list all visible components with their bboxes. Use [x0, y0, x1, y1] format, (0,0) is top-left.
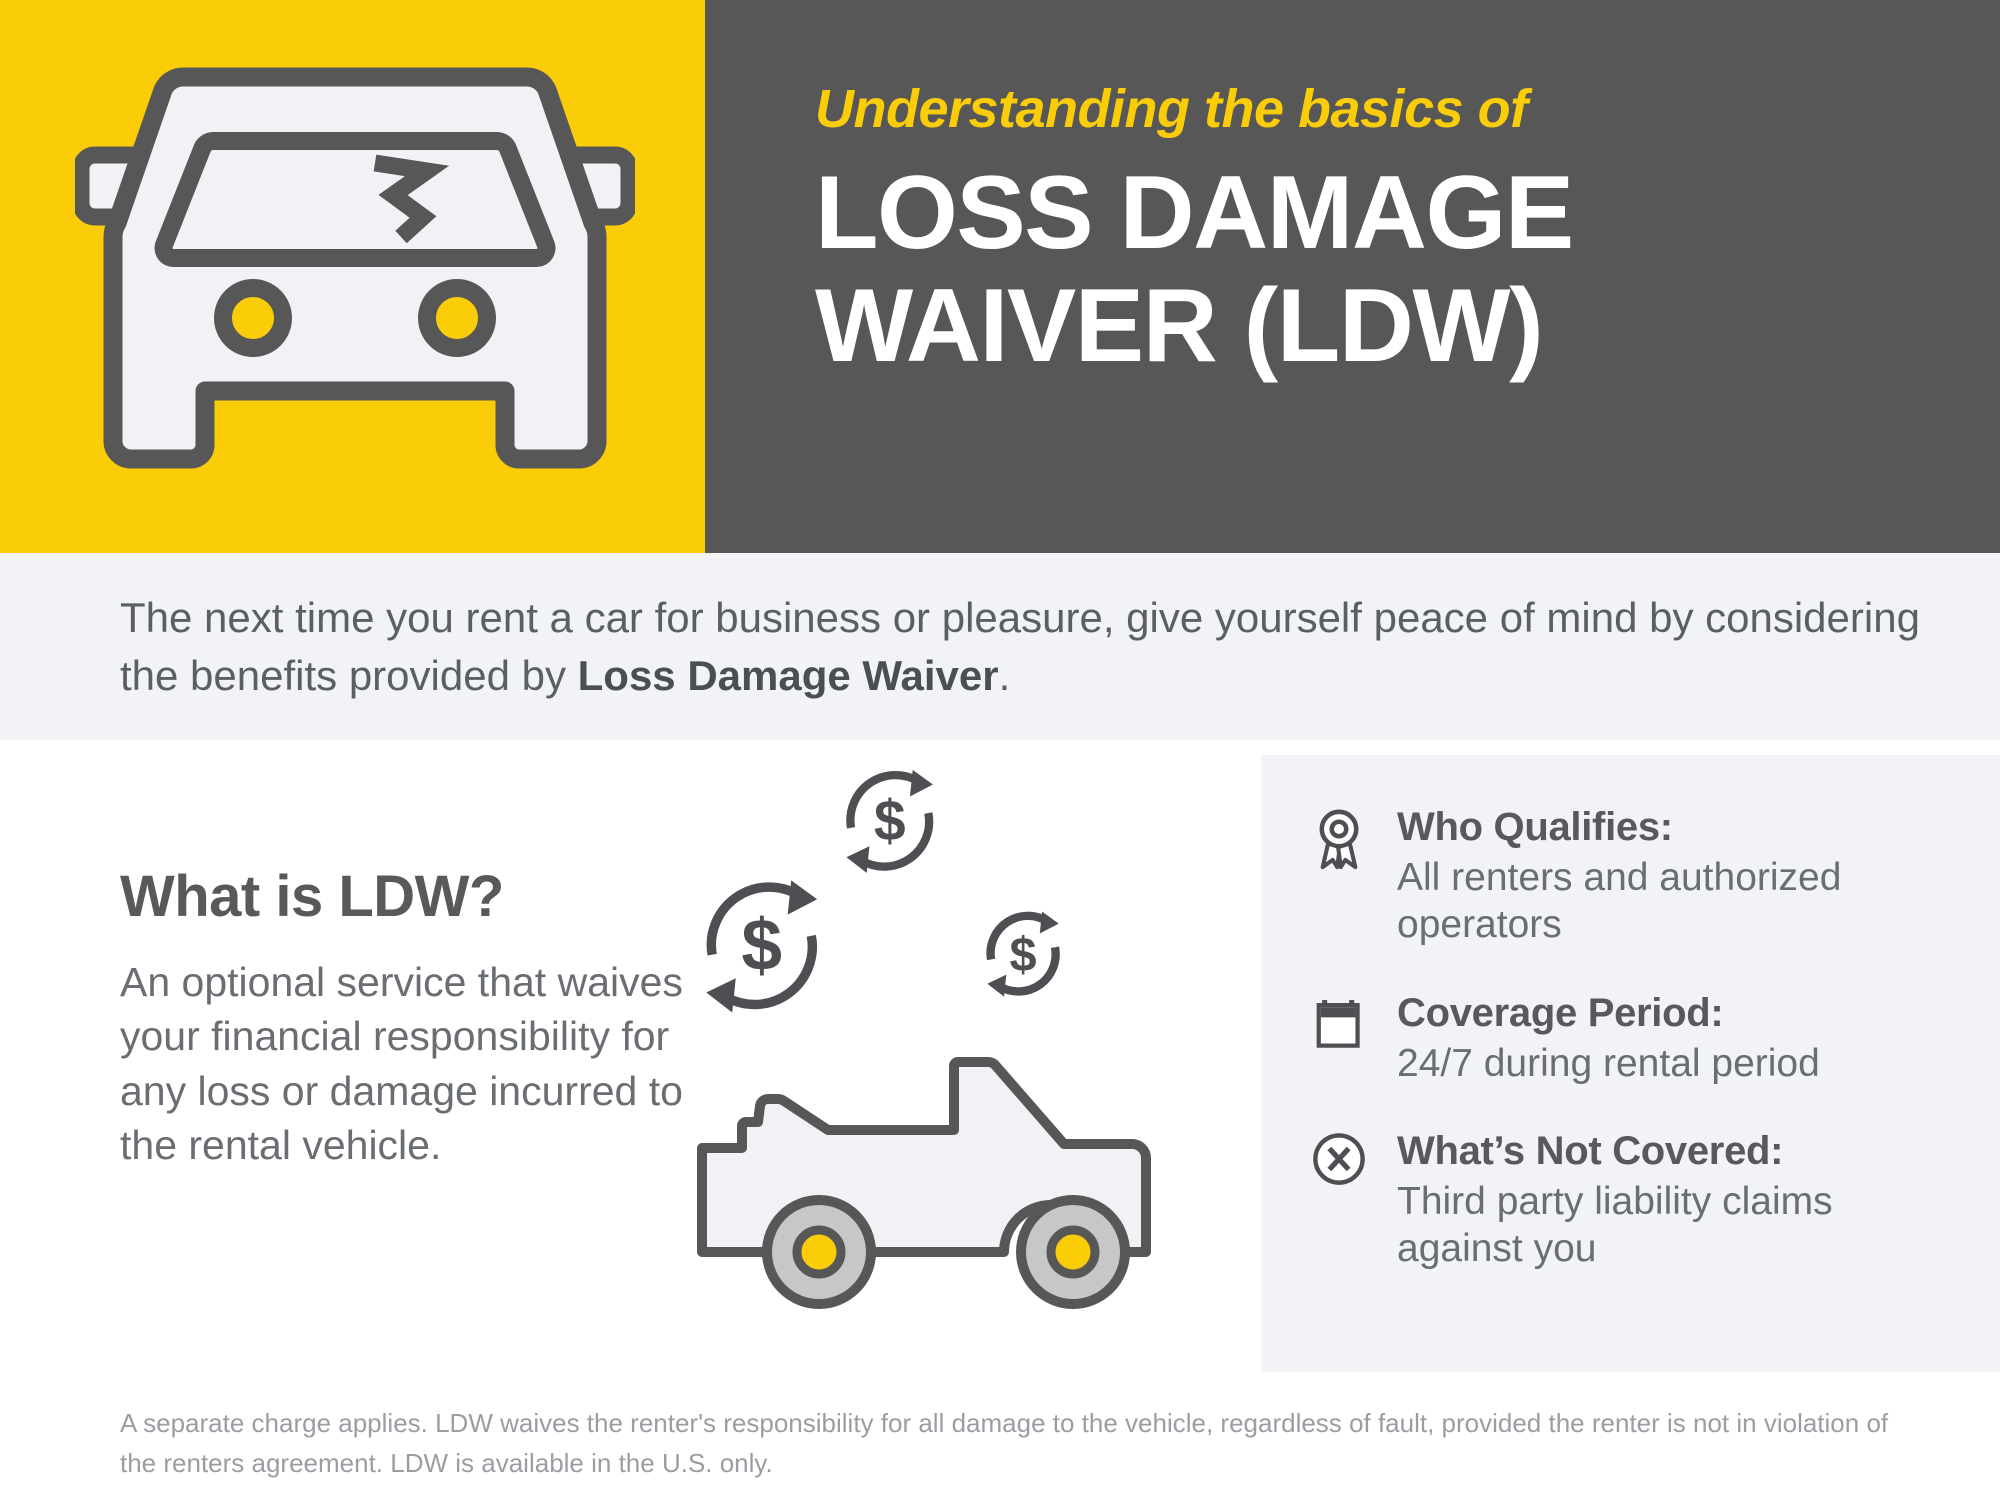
infographic-page: Understanding the basics of LOSS DAMAGE … — [0, 0, 2000, 1500]
bullet-text-group: Who Qualifies: All renters and authorize… — [1375, 803, 1960, 949]
bullet-title: What’s Not Covered: — [1397, 1127, 1960, 1175]
intro-emphasis: Loss Damage Waiver — [578, 652, 999, 699]
bullet-description: 24/7 during rental period — [1397, 1041, 1960, 1088]
bullet-who-qualifies: Who Qualifies: All renters and authorize… — [1303, 803, 1960, 949]
section-body: An optional service that waives your fin… — [120, 955, 700, 1173]
what-is-ldw-section: What is LDW? An optional service that wa… — [120, 865, 700, 1173]
bullet-description: All renters and authorized operators — [1397, 855, 1960, 949]
dollar-refresh-icon: $ — [706, 880, 817, 1012]
intro-text-part2: . — [999, 652, 1011, 699]
svg-text:$: $ — [1010, 928, 1037, 982]
pickup-truck-icon — [702, 1062, 1146, 1304]
footer-disclaimer-area: A separate charge applies. LDW waives th… — [0, 1385, 2000, 1500]
bullet-coverage-period: Coverage Period: 24/7 during rental peri… — [1303, 989, 1960, 1088]
circle-x-icon — [1303, 1127, 1375, 1199]
bullet-title: Who Qualifies: — [1397, 803, 1960, 851]
header-banner: Understanding the basics of LOSS DAMAGE … — [0, 0, 2000, 553]
header-yellow-block — [0, 0, 705, 553]
header-title-line2: WAIVER (LDW) — [815, 270, 1915, 382]
main-content: What is LDW? An optional service that wa… — [0, 740, 2000, 1380]
header-title-line1: LOSS DAMAGE — [815, 157, 1915, 269]
header-dark-block: Understanding the basics of LOSS DAMAGE … — [705, 0, 2000, 553]
bullet-text-group: What’s Not Covered: Third party liabilit… — [1375, 1127, 1960, 1273]
award-ribbon-icon — [1303, 803, 1375, 875]
key-facts-panel: Who Qualifies: All renters and authorize… — [1261, 755, 2000, 1372]
dollar-refresh-icon: $ — [846, 770, 932, 873]
bullet-not-covered: What’s Not Covered: Third party liabilit… — [1303, 1127, 1960, 1273]
cracked-windshield-car-icon — [75, 55, 635, 495]
intro-paragraph: The next time you rent a car for busines… — [120, 589, 1920, 705]
bullet-text-group: Coverage Period: 24/7 during rental peri… — [1375, 989, 1960, 1088]
dollar-refresh-icon: $ — [987, 912, 1058, 997]
disclaimer-text: A separate charge applies. LDW waives th… — [120, 1403, 1900, 1484]
svg-text:$: $ — [874, 789, 906, 853]
svg-text:$: $ — [741, 904, 782, 986]
intro-band: The next time you rent a car for busines… — [0, 553, 2000, 740]
bullet-description: Third party liability claims against you — [1397, 1179, 1960, 1273]
bullet-title: Coverage Period: — [1397, 989, 1960, 1037]
header-eyebrow: Understanding the basics of — [815, 80, 1915, 139]
intro-text-part1: The next time you rent a car for busines… — [120, 594, 1920, 699]
money-and-truck-illustration: $ $ $ — [690, 750, 1230, 1370]
header-text-group: Understanding the basics of LOSS DAMAGE … — [815, 80, 1915, 382]
calendar-icon — [1303, 989, 1375, 1061]
section-heading: What is LDW? — [120, 865, 700, 929]
